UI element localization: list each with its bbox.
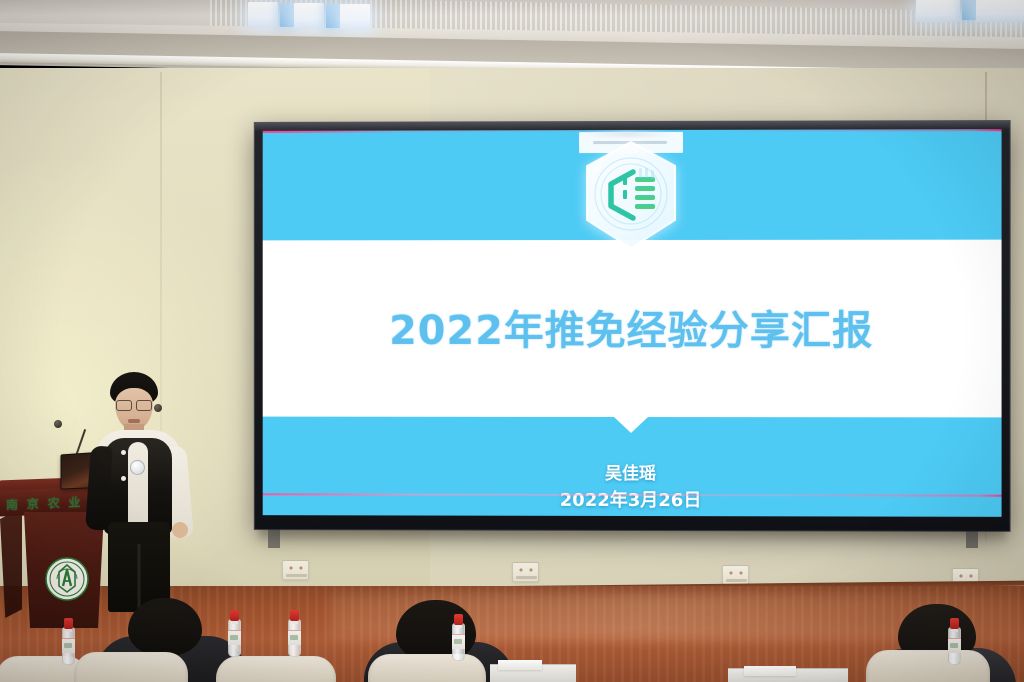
ceiling-light-gap-right-1	[962, 0, 976, 20]
ceiling-light-gap-left-1	[280, 3, 294, 27]
slide-notch-arrow	[614, 417, 648, 433]
presenter-vest	[104, 438, 172, 534]
vest-button-2	[121, 476, 126, 481]
water-bottle-3	[288, 610, 301, 660]
water-bottle-5	[948, 618, 961, 668]
bottle-cap	[64, 618, 73, 629]
screen-glare-reflection	[583, 131, 673, 137]
slide-presenter-name: 吴佳瑶	[263, 459, 1002, 485]
bottle-label	[288, 630, 301, 645]
bottle-label	[948, 638, 961, 653]
ceiling-light-panel-left-2	[294, 3, 324, 29]
desk-paper-1	[498, 660, 542, 670]
ceiling-light-panel-left-1	[248, 2, 278, 28]
bottle-cap	[230, 610, 239, 621]
bottle-label	[452, 634, 465, 649]
screen-surface[interactable]: 2022年推免经验分享汇报 吴佳瑶 2022年3月26日	[263, 129, 1002, 517]
water-bottle-2	[228, 610, 241, 660]
podium-char-3: 农	[48, 494, 60, 511]
screen-mount-right	[966, 528, 978, 548]
podium-char-4: 业	[68, 493, 80, 510]
presenter-person	[86, 372, 190, 612]
ceiling-light-panel-right-1	[916, 0, 960, 22]
ceiling-light-panel-right-2	[976, 0, 1024, 22]
university-hexagon-emblem	[575, 138, 687, 260]
screen-mount-left	[268, 528, 280, 548]
presenter-mouth	[128, 419, 140, 423]
slide-title: 2022年推免经验分享汇报	[263, 298, 1002, 356]
desk-paper-2	[744, 666, 796, 676]
podium-side-panel	[0, 508, 22, 618]
audience-head-2	[128, 598, 202, 656]
wall-socket-2	[512, 562, 539, 582]
presenter-hand	[172, 522, 188, 538]
wall-socket-3	[722, 565, 749, 585]
podium-char-1: 南	[6, 495, 18, 512]
bottle-cap	[290, 610, 299, 621]
university-seal-logo	[44, 556, 90, 602]
glasses-icon	[116, 400, 152, 409]
chair-back-5	[866, 650, 990, 682]
presentation-display-screen[interactable]: 2022年推免经验分享汇报 吴佳瑶 2022年3月26日	[255, 121, 1010, 531]
presenter-badge	[130, 460, 145, 475]
bottle-cap	[454, 614, 463, 625]
ceiling-light-gap-left-2	[326, 4, 340, 28]
chair-back-2	[74, 652, 188, 682]
chair-back-4	[368, 654, 486, 682]
bottle-cap	[950, 618, 959, 629]
presentation-photo-scene: 2022年推免经验分享汇报 吴佳瑶 2022年3月26日	[0, 0, 1024, 682]
ceiling-light-panel-left-3	[340, 4, 370, 30]
bottle-label	[62, 638, 75, 653]
water-bottle-4	[452, 614, 465, 664]
podium-char-2: 京	[27, 494, 39, 511]
vest-button-1	[121, 450, 126, 455]
microphone-head	[54, 420, 62, 428]
wall-socket-1	[282, 560, 309, 580]
water-bottle-1	[62, 618, 75, 668]
slide-canvas: 2022年推免经验分享汇报 吴佳瑶 2022年3月26日	[263, 129, 1002, 517]
slide-date: 2022年3月26日	[263, 485, 1002, 513]
bottle-label	[228, 630, 241, 645]
